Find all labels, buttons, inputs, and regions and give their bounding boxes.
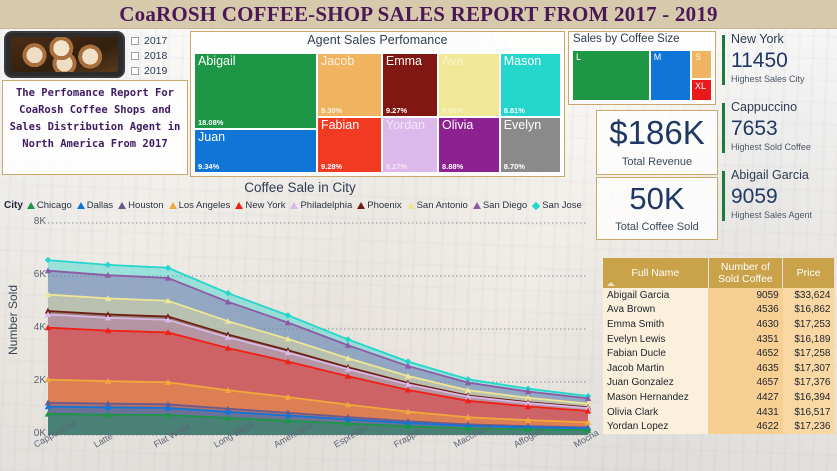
size-treemap[interactable]: LMSXL [572, 50, 712, 101]
triangle-marker-icon [118, 202, 126, 209]
chart-y-tick: 6K [6, 269, 46, 280]
table-header-row: Full Name Number of Sold Coffee Price [603, 258, 835, 288]
cell-full-name: Abigail Garcia [603, 288, 708, 303]
triangle-marker-icon [357, 202, 365, 209]
highest-sales-city-title: New York [722, 31, 834, 48]
agent-treemap-cell[interactable]: Abigail18.08% [194, 53, 317, 129]
cell-full-name: Mason Hernandez [603, 390, 708, 405]
cell-sold-count: 4630 [708, 317, 783, 332]
cell-full-name: Fabian Ducle [603, 346, 708, 361]
year-filter-label: 2018 [144, 50, 167, 62]
highest-sold-coffee-value: 7653 [722, 116, 834, 141]
cell-sold-count: 4427 [708, 390, 783, 405]
legend-item[interactable]: Houston [118, 200, 163, 211]
column-header-number-of-sold-coffee[interactable]: Number of Sold Coffee [708, 258, 783, 288]
year-filter-label: 2019 [144, 65, 167, 77]
agent-treemap-cell-percent: 9.34% [198, 162, 219, 172]
column-header-full-name[interactable]: Full Name [603, 258, 708, 288]
cell-price: $17,307 [783, 361, 835, 376]
year-filter-item-2017[interactable]: 2017 [131, 33, 187, 48]
sort-ascending-icon[interactable] [607, 282, 615, 286]
cell-full-name: Yordan Lopez [603, 419, 708, 434]
report-caption: The Perfomance Report For CoaRosh Coffee… [2, 80, 188, 175]
size-treemap-cell-label: L [576, 51, 581, 63]
agent-treemap-cell[interactable]: Olivia8.88% [438, 117, 500, 173]
agent-treemap-cell-name: Yordan [386, 118, 425, 133]
agent-treemap-cell-name: Abigail [198, 54, 236, 69]
agent-treemap-cell-percent: 9.27% [386, 106, 407, 116]
total-coffee-sold-value: 50K [597, 178, 717, 220]
cell-sold-count: 4536 [708, 303, 783, 318]
agent-treemap-cell-name: Mason [504, 54, 542, 69]
year-filter-label: 2017 [144, 35, 167, 47]
agent-treemap-cell-name: Ava [442, 54, 463, 69]
cell-sold-count: 4351 [708, 332, 783, 347]
size-treemap-cell-label: S [695, 51, 701, 63]
agent-treemap-cell-percent: 8.88% [442, 162, 463, 172]
triangle-marker-icon [169, 202, 177, 209]
size-treemap-cell[interactable]: M [650, 50, 691, 101]
agent-treemap-cell-name: Olivia [442, 118, 473, 133]
agent-sales-table[interactable]: Full Name Number of Sold Coffee Price Ab… [603, 258, 835, 454]
chart-plot-area: Number Sold 0K2K4K6K8K CappuccinoLatteFl… [0, 213, 600, 463]
triangle-marker-icon [235, 202, 243, 209]
chart-y-tick: 4K [6, 322, 46, 333]
cell-sold-count: 4622 [708, 419, 783, 434]
cell-full-name: Jacob Martin [603, 361, 708, 376]
coffee-cups-photo [4, 31, 125, 78]
cell-full-name: Juan Gonzalez [603, 376, 708, 391]
size-treemap-cell-label: XL [695, 80, 706, 92]
highest-sales-city-card: New York 11450 Highest Sales City [722, 31, 834, 91]
column-header-price[interactable]: Price [783, 258, 835, 288]
cell-price: $17,258 [783, 346, 835, 361]
table-row[interactable]: Ava Brown4536$16,862 [603, 303, 835, 318]
legend-item[interactable]: San Diego [473, 200, 527, 211]
size-treemap-cell[interactable]: S [691, 50, 712, 79]
page-title: CoaROSH COFFEE-SHOP SALES REPORT FROM 20… [0, 0, 837, 29]
agent-treemap-cell-name: Evelyn [504, 118, 542, 133]
cell-price: $33,624 [783, 288, 835, 303]
agent-treemap-cell-percent: 8.70% [504, 162, 525, 172]
dashboard-root: CoaROSH COFFEE-SHOP SALES REPORT FROM 20… [0, 0, 837, 471]
legend-item-label: San Antonio [417, 200, 468, 211]
agent-treemap-cell-percent: 9.06% [442, 106, 463, 116]
table-row[interactable]: Juan Gonzalez4657$17,376 [603, 376, 835, 391]
table-row[interactable]: Evelyn Lewis4351$16,189 [603, 332, 835, 347]
table-row[interactable]: Olivia Clark4431$16,517 [603, 405, 835, 420]
agent-treemap-title: Agent Sales Perfomance [191, 32, 564, 47]
table: Full Name Number of Sold Coffee Price Ab… [603, 258, 835, 434]
agent-treemap-cell[interactable]: Ava9.06% [438, 53, 500, 117]
size-treemap-cell[interactable]: L [572, 50, 650, 101]
table-row[interactable]: Emma Smith4630$17,253 [603, 317, 835, 332]
year-filter-item-2018[interactable]: 2018 [131, 48, 187, 63]
agent-treemap-cell-name: Fabian [321, 118, 359, 133]
legend-item-label: Houston [128, 200, 163, 211]
legend-item[interactable]: Los Angeles [169, 200, 231, 211]
total-revenue-card: $186K Total Revenue [596, 110, 718, 175]
table-row[interactable]: Abigail Garcia9059$33,624 [603, 288, 835, 303]
legend-title: City [4, 200, 23, 211]
sales-by-coffee-size-panel: Sales by Coffee Size LMSXL [568, 31, 716, 105]
cell-price: $16,517 [783, 405, 835, 420]
agent-treemap-cell-name: Jacob [321, 54, 354, 69]
highest-sold-coffee-title: Cappuccino [722, 99, 834, 116]
table-row[interactable]: Fabian Ducle4652$17,258 [603, 346, 835, 361]
legend-item-label: Phoenix [367, 200, 401, 211]
table-row[interactable]: Mason Hernandez4427$16,394 [603, 390, 835, 405]
checkbox-icon[interactable] [131, 37, 139, 45]
dashboard-header: CoaROSH COFFEE-SHOP SALES REPORT FROM 20… [0, 0, 837, 29]
legend-item[interactable]: Phoenix [357, 200, 401, 211]
total-revenue-value: $186K [597, 111, 717, 155]
size-treemap-cell[interactable]: XL [691, 79, 712, 101]
cell-sold-count: 9059 [708, 288, 783, 303]
agent-sales-performance-panel: Agent Sales Perfomance Abigail18.08%Juan… [190, 31, 565, 177]
total-coffee-sold-label: Total Coffee Sold [597, 220, 717, 234]
legend-item-label: Philadelphia [300, 200, 352, 211]
total-revenue-label: Total Revenue [597, 155, 717, 169]
cell-full-name: Emma Smith [603, 317, 708, 332]
chart-y-tick: 8K [6, 216, 46, 227]
triangle-marker-icon [407, 202, 415, 209]
highest-sales-city-value: 11450 [722, 48, 834, 73]
column-header-sold-line2: Sold Coffee [718, 273, 773, 285]
cell-sold-count: 4652 [708, 346, 783, 361]
legend-item[interactable]: Philadelphia [290, 200, 352, 211]
agent-treemap-cell-name: Juan [198, 130, 225, 145]
table-row[interactable]: Yordan Lopez4622$17,236 [603, 419, 835, 434]
accent-bar [722, 35, 725, 85]
legend-item[interactable]: San Antonio [407, 200, 468, 211]
agent-treemap-cell[interactable]: Emma9.27% [382, 53, 438, 117]
highest-sales-agent-subtitle: Highest Sales Agent [722, 209, 834, 221]
cell-price: $17,253 [783, 317, 835, 332]
table-body: Abigail Garcia9059$33,624Ava Brown4536$1… [603, 288, 835, 434]
triangle-marker-icon [290, 202, 298, 209]
triangle-marker-icon [473, 202, 481, 209]
coffee-sale-in-city-chart: Coffee Sale in City CityChicagoDallasHou… [0, 178, 600, 471]
year-filter[interactable]: 201720182019 [131, 33, 187, 78]
legend-item[interactable]: San Jose [532, 200, 582, 211]
highest-sold-coffee-card: Cappuccino 7653 Highest Sold Coffee [722, 99, 834, 159]
agent-treemap[interactable]: Abigail18.08%Juan9.34%Jacob9.30%Fabian9.… [194, 53, 561, 173]
agent-treemap-cell[interactable]: Mason8.81% [500, 53, 561, 117]
agent-treemap-cell-percent: 8.81% [504, 106, 525, 116]
highest-sales-agent-title: Abigail Garcia [722, 167, 834, 184]
cell-price: $16,189 [783, 332, 835, 347]
agent-treemap-cell-percent: 9.27% [386, 162, 407, 172]
chart-legend[interactable]: CityChicagoDallasHoustonLos AngelesNew Y… [0, 198, 600, 213]
triangle-marker-icon [27, 202, 35, 209]
highest-sales-agent-value: 9059 [722, 184, 834, 209]
legend-item[interactable]: Dallas [77, 200, 113, 211]
size-treemap-cell-label: M [654, 51, 662, 63]
coffee-cups-photo-image [11, 37, 118, 72]
legend-item-label: Los Angeles [179, 200, 231, 211]
legend-item-label: New York [245, 200, 285, 211]
checkbox-icon[interactable] [131, 67, 139, 75]
cell-price: $17,376 [783, 376, 835, 391]
checkbox-icon[interactable] [131, 52, 139, 60]
legend-item-label: San Diego [483, 200, 527, 211]
agent-treemap-cell-name: Emma [386, 54, 422, 69]
cell-full-name: Ava Brown [603, 303, 708, 318]
chart-title: Coffee Sale in City [0, 178, 600, 198]
column-header-price-label: Price [797, 267, 821, 279]
table-head: Full Name Number of Sold Coffee Price [603, 258, 835, 288]
cell-sold-count: 4657 [708, 376, 783, 391]
legend-item-label: Dallas [87, 200, 113, 211]
accent-bar [722, 171, 725, 221]
legend-item-label: San Jose [542, 200, 582, 211]
legend-item[interactable]: Chicago [27, 200, 72, 211]
highest-sales-agent-card: Abigail Garcia 9059 Highest Sales Agent [722, 167, 834, 227]
agent-treemap-cell[interactable]: Jacob9.30% [317, 53, 382, 117]
agent-treemap-cell-percent: 9.30% [321, 106, 342, 116]
agent-treemap-cell[interactable]: Evelyn8.70% [500, 117, 561, 173]
triangle-marker-icon [77, 202, 85, 209]
column-header-full-name-label: Full Name [631, 267, 679, 279]
table-row[interactable]: Jacob Martin4635$17,307 [603, 361, 835, 376]
cell-full-name: Evelyn Lewis [603, 332, 708, 347]
cell-price: $16,862 [783, 303, 835, 318]
report-caption-text: The Perfomance Report For CoaRosh Coffee… [3, 81, 187, 153]
agent-treemap-cell-percent: 18.08% [198, 118, 223, 128]
cell-full-name: Olivia Clark [603, 405, 708, 420]
diamond-marker-icon [532, 201, 540, 209]
cell-price: $17,236 [783, 419, 835, 434]
highest-sales-city-subtitle: Highest Sales City [722, 73, 834, 85]
chart-y-axis-label: Number Sold [6, 265, 20, 375]
year-filter-item-2019[interactable]: 2019 [131, 63, 187, 78]
highest-sold-coffee-subtitle: Highest Sold Coffee [722, 141, 834, 153]
accent-bar [722, 103, 725, 153]
agent-treemap-cell[interactable]: Yordan9.27% [382, 117, 438, 173]
size-treemap-title: Sales by Coffee Size [569, 32, 715, 45]
cell-sold-count: 4431 [708, 405, 783, 420]
column-header-sold-line1: Number of [721, 261, 770, 273]
total-coffee-sold-card: 50K Total Coffee Sold [596, 177, 718, 240]
cell-price: $16,394 [783, 390, 835, 405]
agent-treemap-cell[interactable]: Fabian9.28% [317, 117, 382, 173]
legend-item[interactable]: New York [235, 200, 285, 211]
legend-item-label: Chicago [37, 200, 72, 211]
agent-treemap-cell-percent: 9.28% [321, 162, 342, 172]
agent-treemap-cell[interactable]: Juan9.34% [194, 129, 317, 173]
chart-y-tick: 2K [6, 375, 46, 386]
cell-sold-count: 4635 [708, 361, 783, 376]
